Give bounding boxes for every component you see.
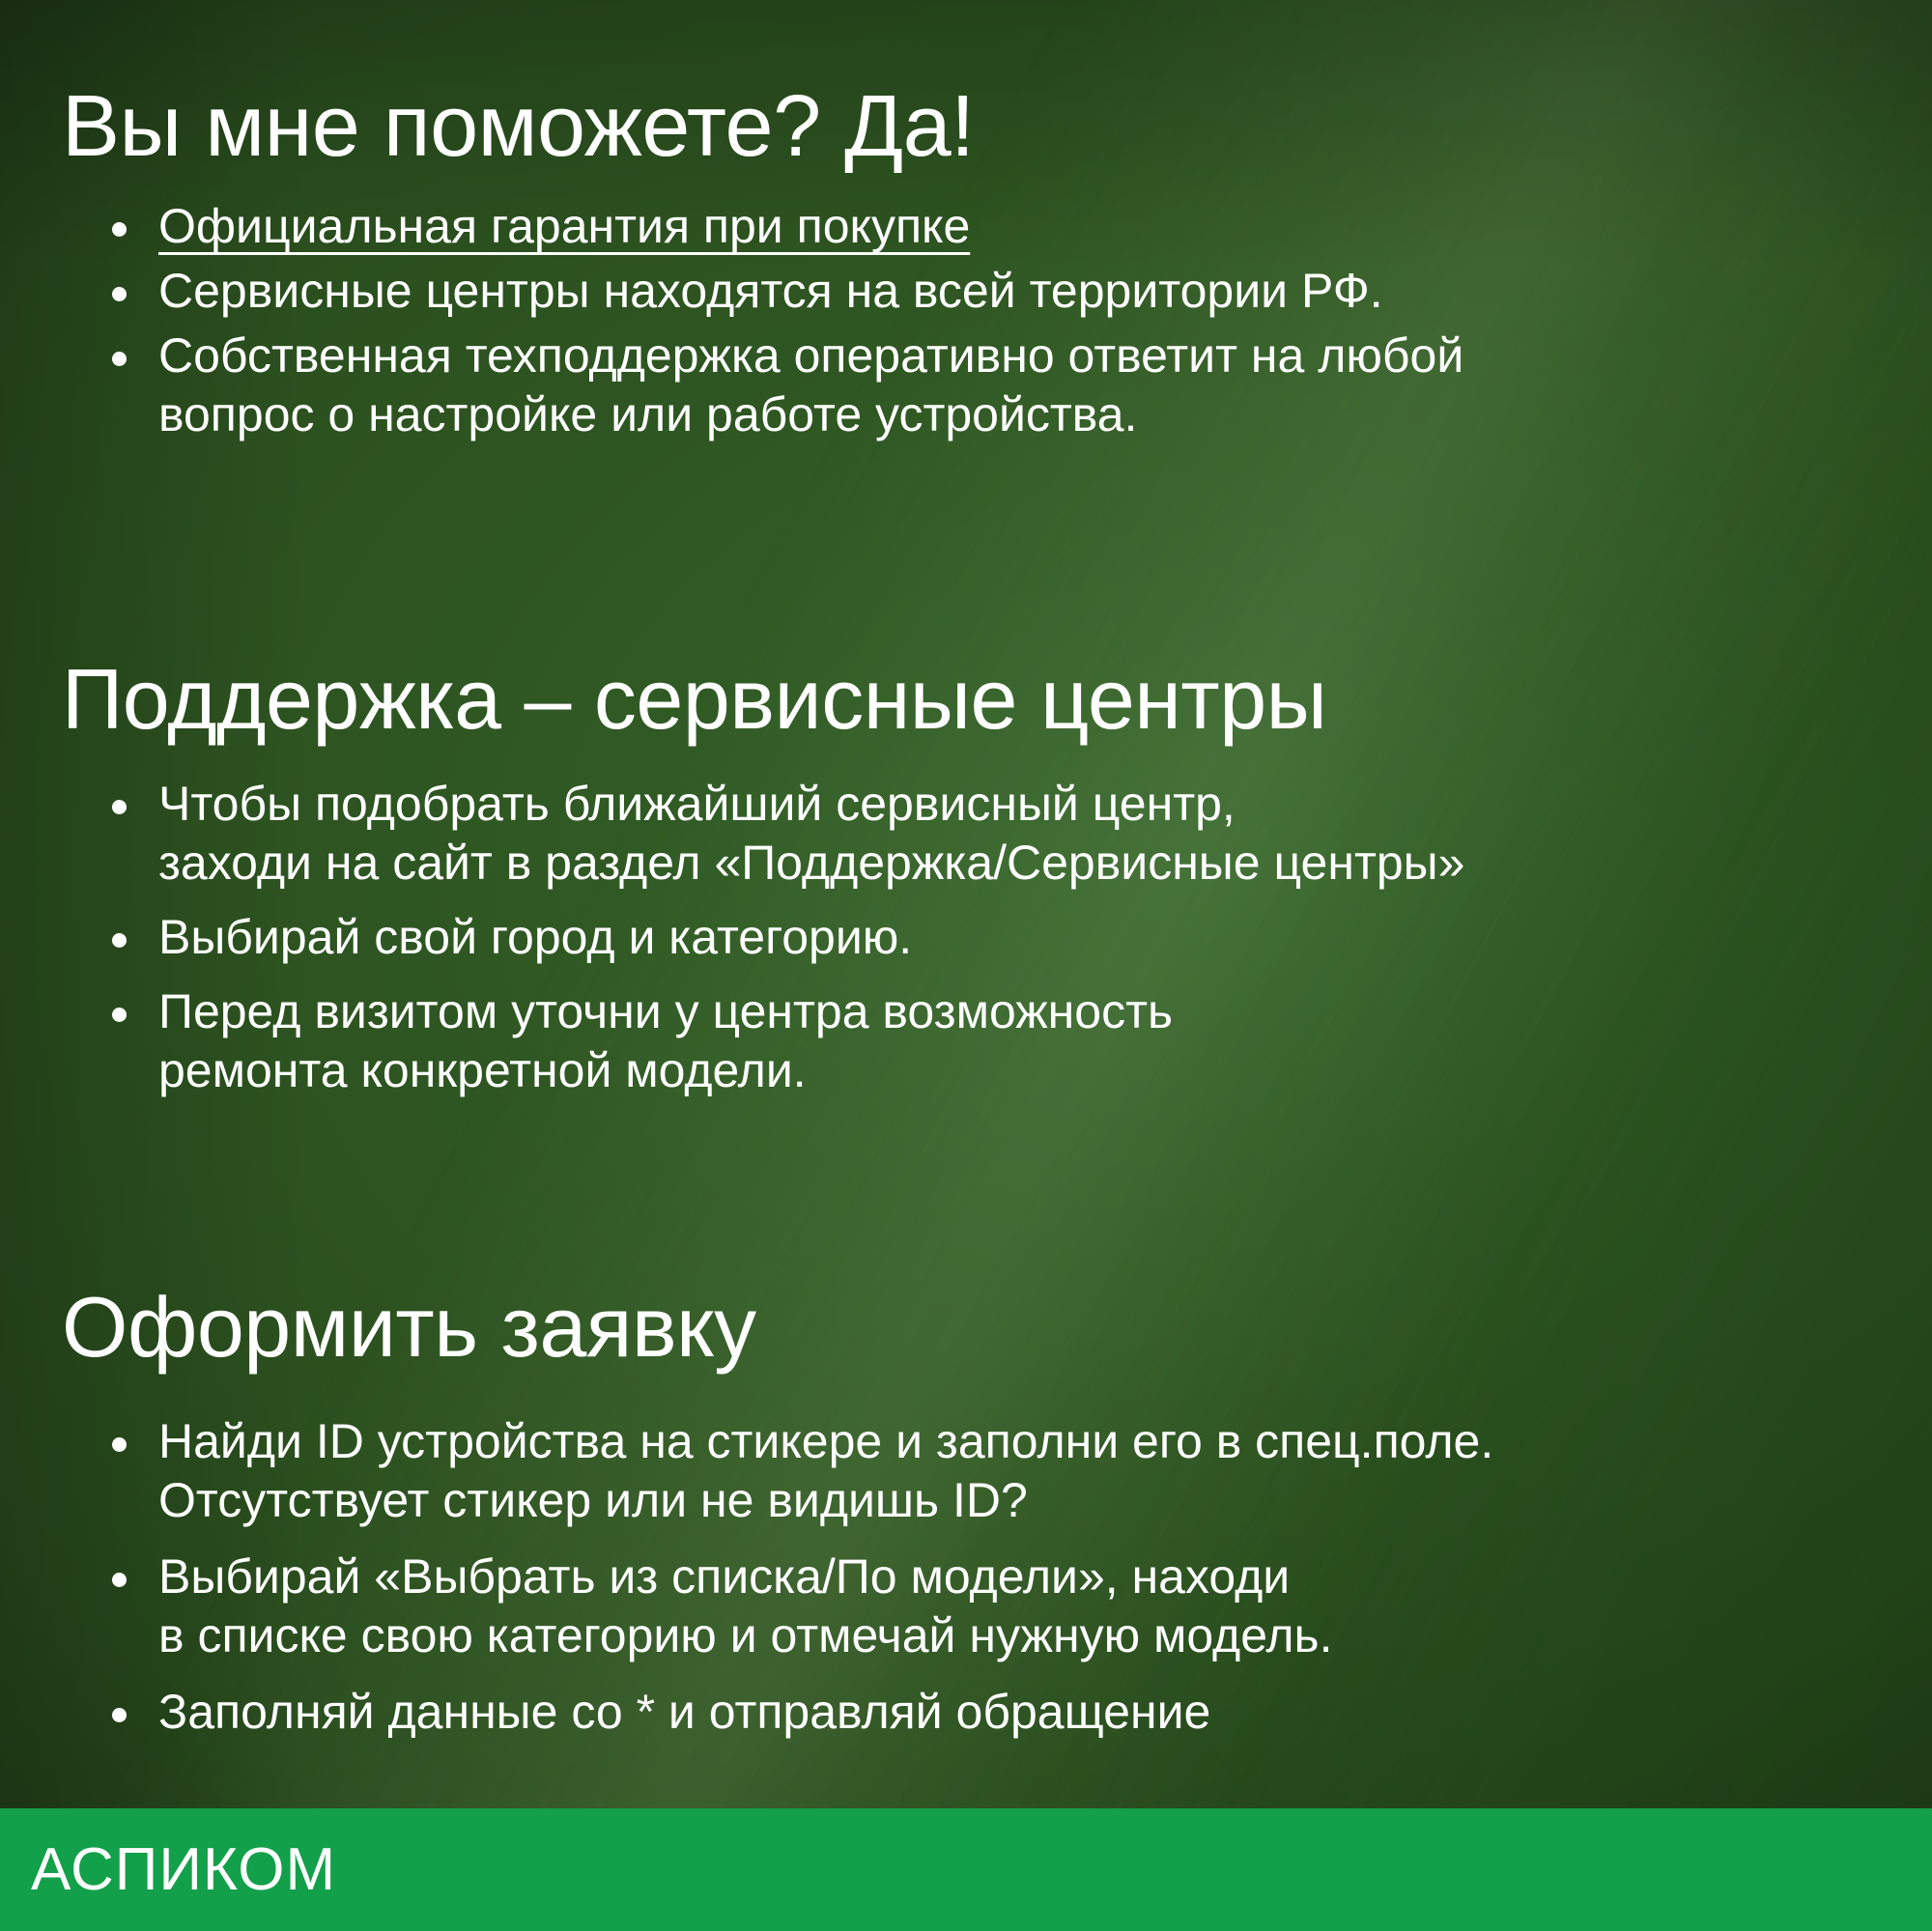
list-item: Найди ID устройства на стикере и заполни…: [106, 1412, 1893, 1530]
list-item-text: Перед визитом уточни у центра возможност…: [158, 984, 1173, 1097]
list-item: Сервисные центры находятся на всей терри…: [106, 262, 1893, 321]
list-item-text: Сервисные центры находятся на всей терри…: [158, 264, 1383, 318]
list-item: Заполняй данные со * и отправляй обращен…: [106, 1683, 1893, 1742]
heading-request: Оформить заявку: [62, 1285, 1893, 1370]
brand-name: АСПИКОМ: [31, 1835, 336, 1904]
bullet-list-support: Чтобы подобрать ближайший сервисный цент…: [62, 775, 1893, 1100]
list-item[interactable]: Официальная гарантия при покупке: [106, 197, 1893, 256]
list-item: Выбирай свой город и категорию.: [106, 908, 1893, 967]
heading-warranty: Вы мне поможете? Да!: [62, 83, 1893, 170]
section-request: Оформить заявку Найди ID устройства на с…: [62, 1285, 1893, 1759]
footer-brand-bar: АСПИКОМ: [0, 1808, 1932, 1931]
bullet-list-request: Найди ID устройства на стикере и заполни…: [62, 1412, 1893, 1742]
list-item-text: Выбирай «Выбрать из списка/По модели», н…: [158, 1549, 1332, 1662]
bullet-list-warranty: Официальная гарантия при покупке Сервисн…: [62, 197, 1893, 444]
list-item: Собственная техподдержка оперативно отве…: [106, 327, 1893, 444]
section-warranty: Вы мне поможете? Да! Официальная гаранти…: [62, 83, 1893, 450]
list-item-text: Заполняй данные со * и отправляй обращен…: [158, 1685, 1210, 1739]
heading-support: Поддержка – сервисные центры: [62, 657, 1893, 742]
list-item: Чтобы подобрать ближайший сервисный цент…: [106, 775, 1893, 893]
list-item: Перед визитом уточни у центра возможност…: [106, 982, 1893, 1100]
section-support: Поддержка – сервисные центры Чтобы подоб…: [62, 657, 1893, 1116]
slide-content: Вы мне поможете? Да! Официальная гаранти…: [0, 0, 1932, 1931]
list-item: Выбирай «Выбрать из списка/По модели», н…: [106, 1548, 1893, 1665]
list-item-text: Чтобы подобрать ближайший сервисный цент…: [158, 777, 1464, 890]
slide-canvas: Вы мне поможете? Да! Официальная гаранти…: [0, 0, 1932, 1931]
list-item-text: Официальная гарантия при покупке: [158, 199, 970, 253]
list-item-text: Собственная техподдержка оперативно отве…: [158, 328, 1463, 441]
list-item-text: Найди ID устройства на стикере и заполни…: [158, 1414, 1493, 1527]
list-item-text: Выбирай свой город и категорию.: [158, 910, 912, 964]
